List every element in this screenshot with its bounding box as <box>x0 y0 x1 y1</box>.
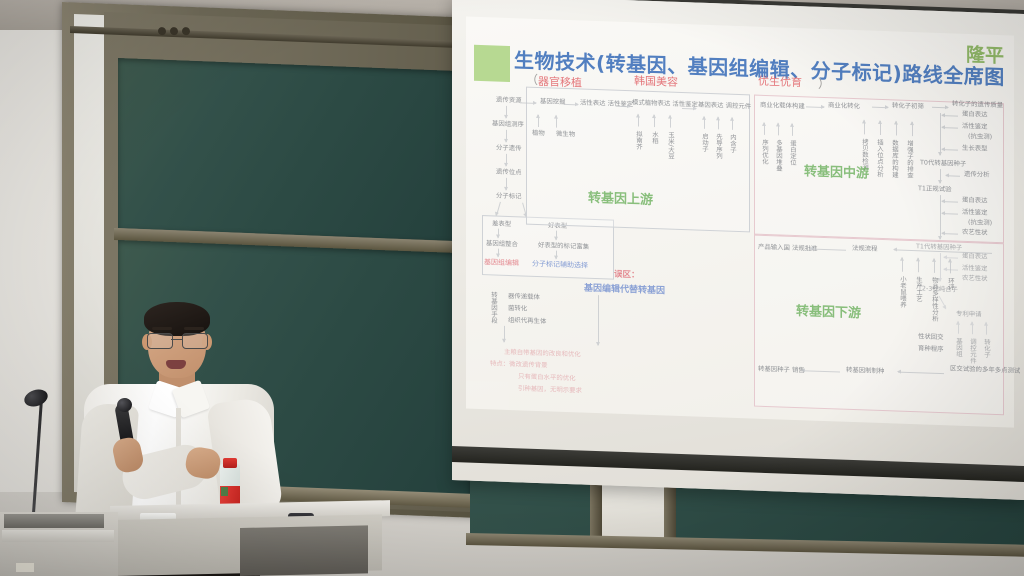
rail-knob-icon <box>170 27 178 35</box>
midstream-screen-item: 插入位点分析 <box>876 139 883 201</box>
eyebrow-left <box>152 327 172 330</box>
arrow-up <box>732 118 733 130</box>
seed-production-node: 转基因制制种 <box>846 366 884 375</box>
presentation-slide: 生物技术(转基因、基因组编辑、分子标记)路线全席图 隆平 （ 器官移植 韩国美容… <box>466 16 1014 427</box>
arrow-up <box>792 124 793 136</box>
subtitle-paren-open: （ <box>526 71 538 88</box>
transgenic-method-item: 器传递载体 <box>508 292 540 301</box>
arrow-down <box>556 251 557 259</box>
arrow-up <box>538 115 539 127</box>
slide-accent-bar <box>474 45 510 82</box>
upstream-source: 微生物 <box>556 130 575 139</box>
arrow-up <box>896 122 897 136</box>
hair <box>144 302 210 336</box>
regulatory-item: 物品多样性分析 <box>931 277 938 327</box>
misconception-text: 基因编辑代替转基因 <box>584 281 665 297</box>
assay-item: 农艺性状 <box>962 228 988 237</box>
arrow-down-long <box>598 295 599 345</box>
regulatory-item: 小老鼠喂养 <box>899 276 906 322</box>
left-chain-item: 基因组测序 <box>492 119 524 128</box>
left-vertical-label: 转基因手段 <box>490 291 497 345</box>
misconception-title: 误区： <box>614 268 640 281</box>
arrow-down <box>506 130 507 142</box>
subtitle-paren-close: ） <box>818 75 830 92</box>
arrow-left <box>946 175 960 176</box>
lecture-hall-scene: 生物技术(转基因、基因组编辑、分子标记)路线全席图 隆平 （ 器官移植 韩国美容… <box>0 0 1024 576</box>
arrow-down <box>556 231 557 240</box>
arrow-up <box>704 117 705 129</box>
projection-screen: 生物技术(转基因、基因组编辑、分子标记)路线全席图 隆平 （ 器官移植 韩国美容… <box>452 0 1024 500</box>
arrow-up <box>950 259 951 273</box>
bottle-cap <box>223 458 237 468</box>
bottle-label-green-mark <box>221 487 228 496</box>
genetic-analysis: 遗传分析 <box>964 170 990 179</box>
side-desk-panel <box>2 530 114 542</box>
upstream-step: 基因挖掘 <box>540 97 566 106</box>
t1-trial: T1正规试验 <box>918 184 952 193</box>
arrow-right <box>520 102 536 104</box>
assay-item: 蛋白表达 <box>962 110 988 119</box>
regulatory-element: 启动子 <box>701 133 708 167</box>
screen-surface: 生物技术(转基因、基因组编辑、分子标记)路线全席图 隆平 （ 器官移植 韩国美容… <box>452 0 1024 500</box>
assay-item: 生长表型 <box>962 144 988 153</box>
branch-gene-editing: 基因组编辑 <box>484 258 519 268</box>
eyebrow-right <box>184 327 204 330</box>
glasses-icon <box>146 333 208 348</box>
arrow-down <box>506 106 507 118</box>
arrow-left <box>942 201 958 203</box>
lectern-shelf-recess <box>240 525 368 576</box>
mouth <box>166 360 186 369</box>
assay-item: 活性鉴定 <box>962 122 988 131</box>
arrow-up <box>902 258 903 272</box>
arrow-left <box>942 127 958 129</box>
left-chain-item: 遗传资源 <box>496 96 522 105</box>
branch-bad-next: 基因组整合 <box>486 239 518 248</box>
subtitle-red-2: 韩国美容 <box>634 72 678 90</box>
arrow-up <box>718 117 719 129</box>
arrow-up <box>556 116 557 128</box>
transgenic-method-item: 组织代再生体 <box>508 316 546 325</box>
stage-label-downstream: 转基因下游 <box>796 300 861 321</box>
arrow-up <box>934 259 935 273</box>
regulatory-element: 先导序列 <box>715 133 722 167</box>
chalkboard-panel-upper <box>118 58 470 242</box>
branch-marker-selection: 分子标记辅助选择 <box>532 260 588 271</box>
midstream-step: 转化子初筛 <box>892 101 924 110</box>
seed-sale-node: 转基因种子 销售 <box>758 365 805 375</box>
arrow-up <box>670 116 671 128</box>
subtitle-red-3: 优生优育 <box>758 73 802 91</box>
upstream-source: 植物 <box>532 129 545 137</box>
assay-item: (抗虫测) <box>968 218 992 227</box>
side-desk-equipment <box>4 514 104 528</box>
arrow-down <box>940 195 941 239</box>
rail-knob-icon <box>158 27 166 35</box>
midstream-screen-item: 数据库的构建 <box>891 139 898 201</box>
arrow-left <box>942 115 958 117</box>
pink-note-line: 特点：微改遗传背景 <box>490 359 548 371</box>
model-plant: 玉米/大豆 <box>667 132 674 168</box>
arrow-up <box>880 121 881 135</box>
midstream-vertical-item: 序列优化 <box>761 139 768 173</box>
desk-label-tag <box>16 563 34 572</box>
rail-knob-icon <box>182 27 190 35</box>
midstream-step: 商业化载体构建 <box>760 101 805 111</box>
assay-item: 活性鉴定 <box>962 208 988 217</box>
pink-note-line: 引种基因，无明示要求 <box>518 384 582 396</box>
transgenic-method-item: 菌转化 <box>508 304 527 313</box>
stage-label-upstream: 转基因上游 <box>588 187 653 208</box>
arrow-up <box>654 115 655 127</box>
arrow-up <box>864 120 865 134</box>
left-chain-item: 分子标记 <box>496 192 522 201</box>
arrow-up <box>912 122 913 136</box>
arrow-down <box>506 154 507 166</box>
midstream-vertical-item: 多基因堆叠 <box>775 139 782 173</box>
stage-label-midstream: 转基因中游 <box>804 160 869 181</box>
arrow-up <box>638 114 639 126</box>
model-plant: 拟南芥 <box>635 130 642 166</box>
midstream-vertical-item: 蛋白定位 <box>789 140 796 174</box>
arrow-down <box>506 178 507 190</box>
regulatory-node: 法规流程 <box>852 244 878 253</box>
midstream-screen-item: 增强子的排查 <box>906 140 913 202</box>
regulatory-item: 环评 <box>947 277 954 307</box>
regulatory-element: 内含子 <box>729 134 736 168</box>
arrow-left <box>942 213 958 215</box>
left-chain-item: 分子遗传 <box>496 144 522 153</box>
arrow-left <box>942 149 958 151</box>
phenotype-bad: 差表型 <box>492 219 511 228</box>
slide-corner-brand: 隆平 <box>966 40 1004 68</box>
arrow-down <box>940 169 941 183</box>
assay-item: 蛋白表达 <box>962 196 988 205</box>
left-chain-item: 遗传位点 <box>496 168 522 177</box>
arrow-up <box>918 258 919 272</box>
arrow-down <box>504 326 505 342</box>
arrow-up <box>764 123 765 135</box>
model-plant: 水稻 <box>651 131 658 167</box>
trial-node: 区交试验的多年多点测试 <box>950 365 1020 397</box>
assay-item: (抗虫测) <box>968 132 992 141</box>
arrow-down <box>498 249 499 257</box>
backcross-line: 育种程序 <box>918 344 944 353</box>
seed-t0: T0代转基因种子 <box>920 158 966 168</box>
pink-note-line: 只有蛋白水平的优化 <box>518 372 576 384</box>
backcross-line: 性状回交 <box>918 332 944 341</box>
arrow-down <box>940 113 941 155</box>
arrow-up <box>778 123 779 135</box>
arrow-down-left <box>496 202 501 216</box>
arrow-left <box>942 233 958 235</box>
arrow-down <box>498 229 499 238</box>
pink-note-line: 主粮自带基因的改良和优化 <box>504 348 581 360</box>
midstream-step: 商业化转化 <box>828 101 860 110</box>
regulatory-item: 生产工艺 <box>915 276 922 322</box>
